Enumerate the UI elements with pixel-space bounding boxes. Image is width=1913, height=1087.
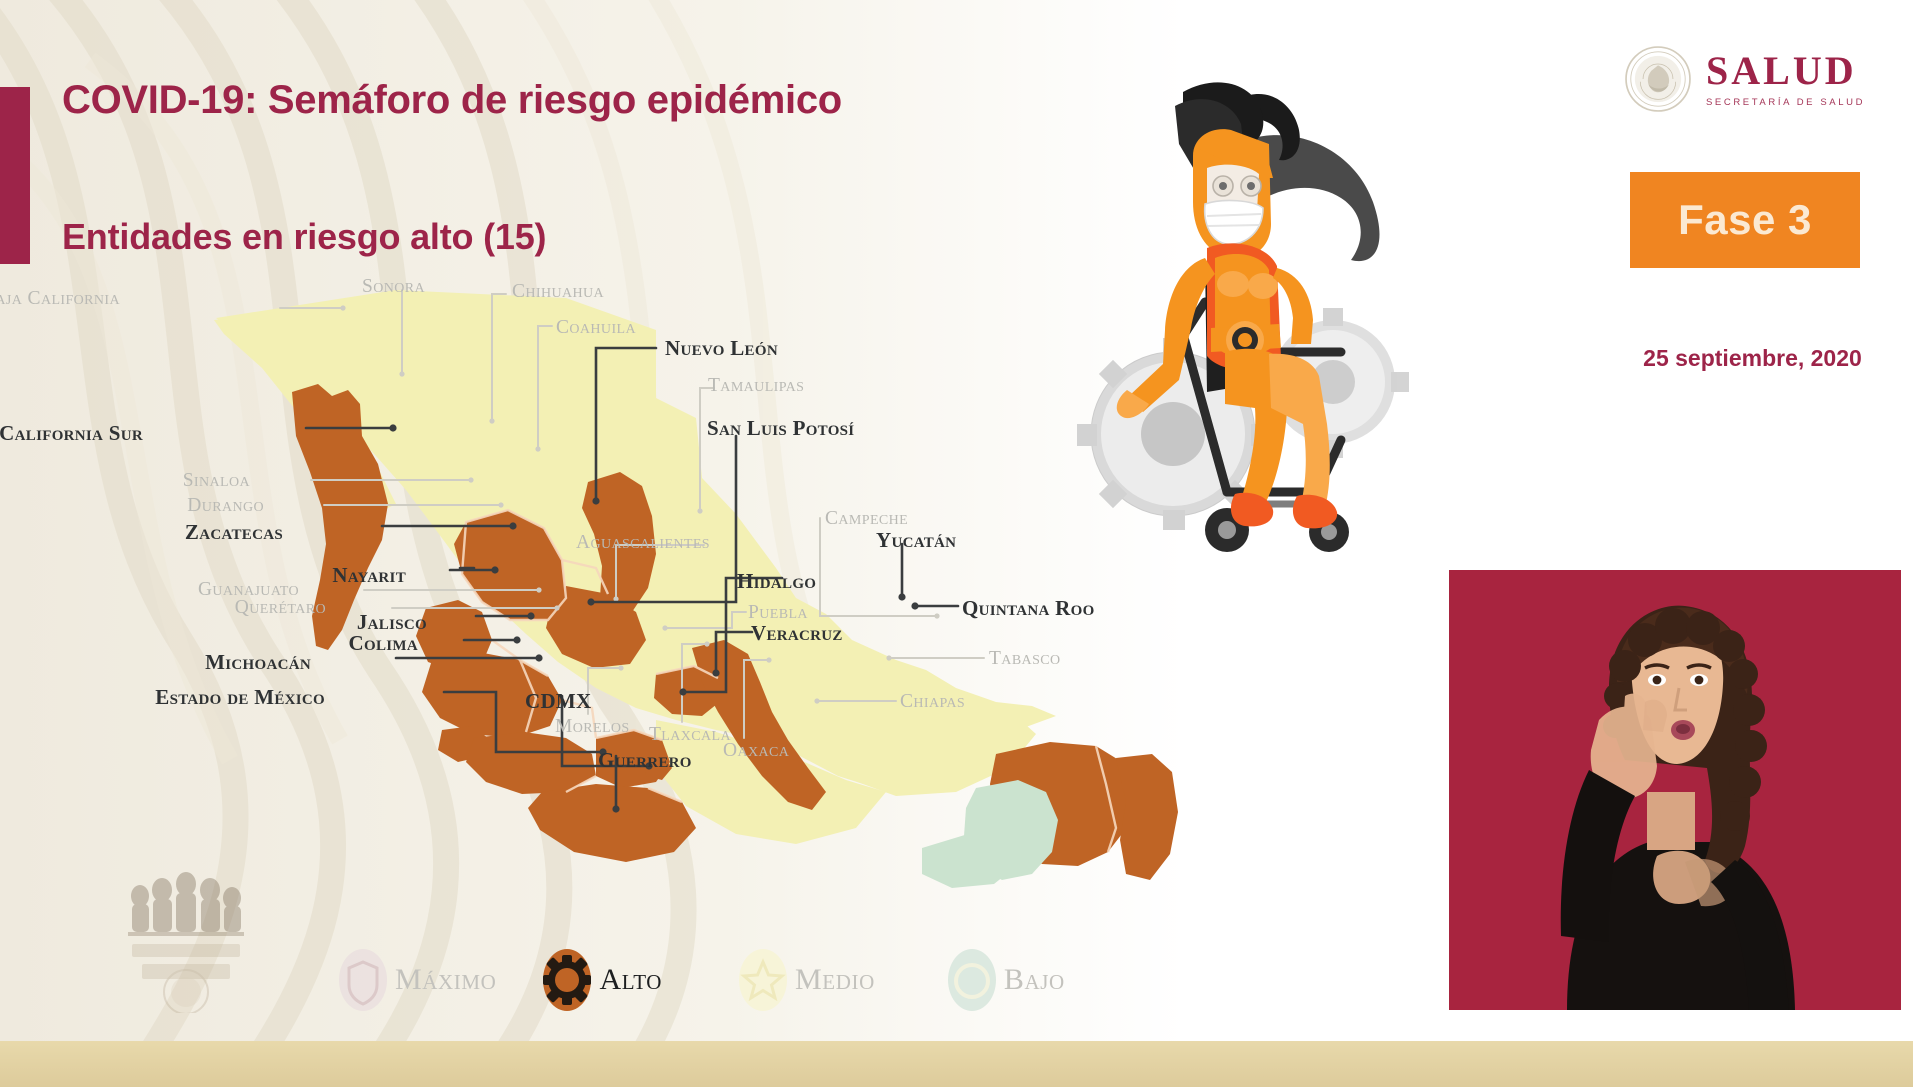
map-label-jalisco: Jalisco (357, 612, 427, 633)
map-label-veracruz: Veracruz (751, 623, 843, 644)
map-label-chihuahua: Chihuahua (512, 282, 604, 302)
map-label-nuevo-le-n: Nuevo León (665, 338, 778, 359)
map-label-aguascalientes: Aguascalientes (576, 533, 710, 553)
phase-badge: Fase 3 (1630, 172, 1860, 268)
map-label-hidalgo: Hidalgo (737, 571, 816, 592)
mexico-national-seal-icon (1624, 45, 1692, 113)
map-label-nayarit: Nayarit (332, 565, 406, 586)
map-label-tamaulipas: Tamaulipas (708, 376, 804, 396)
legend-item-medio[interactable]: Medio (736, 945, 875, 1015)
map-label-quintana-roo: Quintana Roo (962, 598, 1095, 619)
map-label-durango: Durango (187, 496, 264, 516)
map-label-puebla: Puebla (748, 603, 808, 623)
legend-item-bajo[interactable]: Bajo (945, 945, 1065, 1015)
map-label-colima: Colima (349, 633, 418, 654)
risk-legend: Máximo Alto Medio Bajo (336, 942, 1136, 1018)
star-icon (736, 945, 790, 1015)
sign-language-interpreter-panel (1449, 570, 1901, 1010)
map-label-coahuila: Coahuila (556, 318, 636, 338)
mexico-risk-map[interactable]: Baja CaliforniaSonoraChihuahuaCoahuilaNu… (96, 268, 1286, 948)
map-label-sonora: Sonora (362, 277, 425, 297)
presentation-slide: COVID-19: Semáforo de riesgo epidémico E… (0, 0, 1913, 1087)
title-accent-bar (0, 87, 30, 264)
sign-language-interpreter-video (1449, 570, 1901, 1010)
map-label-sinaloa: Sinaloa (183, 471, 250, 491)
map-label-quer-taro: Querétaro (235, 598, 326, 618)
shield-icon (336, 945, 390, 1015)
map-label-tlaxcala: Tlaxcala (649, 725, 731, 745)
legend-item-label: Máximo (395, 963, 496, 997)
page-subtitle: Entidades en riesgo alto (15) (62, 216, 546, 258)
legend-item-label: Alto (599, 963, 662, 997)
map-region-bajo (922, 780, 1058, 888)
map-label-baja-california-sur: Baja California Sur (0, 423, 143, 444)
legend-item-alto[interactable]: Alto (540, 945, 662, 1015)
map-label-guerrero: Guerrero (598, 750, 692, 771)
map-label-tabasco: Tabasco (989, 649, 1061, 669)
phase-label: Fase 3 (1678, 196, 1812, 244)
legend-item-label: Bajo (1004, 963, 1065, 997)
presentation-date: 25 septiembre, 2020 (1630, 345, 1875, 372)
bottom-decorative-bar (0, 1041, 1913, 1087)
map-label-yucat-n: Yucatán (876, 530, 956, 551)
map-label-oaxaca: Oaxaca (723, 741, 789, 761)
legend-item-máximo[interactable]: Máximo (336, 945, 496, 1015)
map-label-estado-de-m-xico: Estado de México (155, 687, 325, 708)
map-label-san-luis-potos-: San Luis Potosí (707, 418, 854, 439)
map-label-cdmx: CDMX (525, 691, 592, 712)
salud-wordmark: SALUD (1706, 51, 1865, 91)
legend-item-label: Medio (795, 963, 875, 997)
map-label-chiapas: Chiapas (900, 692, 965, 712)
map-label-michoac-n: Michoacán (205, 652, 311, 673)
map-label-zacatecas: Zacatecas (185, 522, 283, 543)
map-label-baja-california: Baja California (0, 289, 120, 309)
salud-tagline: SECRETARÍA DE SALUD (1706, 97, 1865, 108)
gear-icon (540, 945, 594, 1015)
circle-icon (945, 945, 999, 1015)
map-label-morelos: Morelos (555, 717, 630, 737)
page-title: COVID-19: Semáforo de riesgo epidémico (62, 78, 842, 123)
map-label-campeche: Campeche (825, 509, 908, 529)
salud-logo: SALUD SECRETARÍA DE SALUD (1624, 43, 1902, 115)
